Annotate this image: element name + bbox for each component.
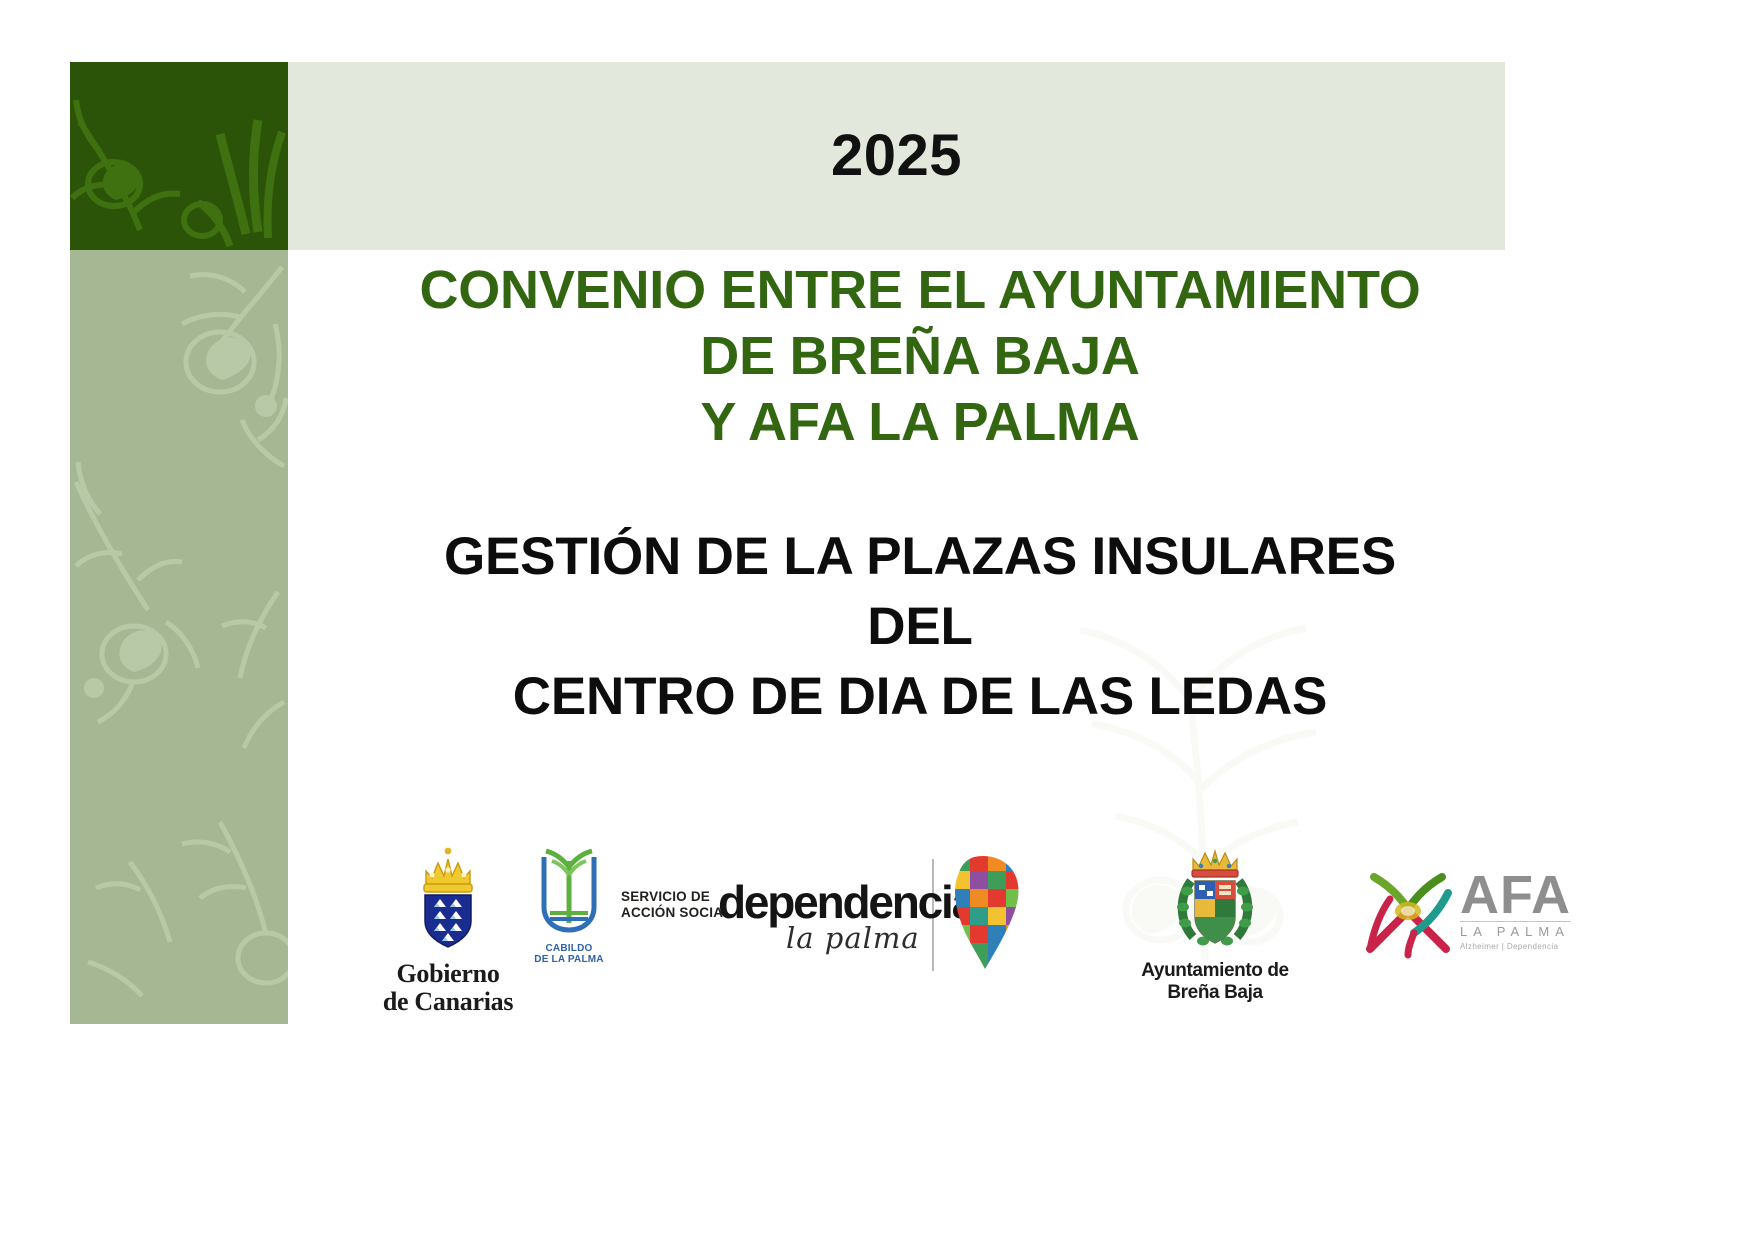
sidebar-dark-panel — [70, 62, 288, 250]
logo-afa-la-palma: AFA LA PALMA Alzheimer | Dependencia — [1360, 845, 1660, 959]
gobcan-label-line-2: de Canarias — [348, 988, 548, 1016]
title-green-line-1: CONVENIO ENTRE EL AYUNTAMIENTO — [300, 258, 1540, 324]
title-green-line-2: DE BREÑA BAJA — [300, 324, 1540, 390]
header-band: 2025 — [288, 62, 1505, 250]
sidebar-dark-foliage-icon — [70, 62, 288, 250]
coat-of-arms-icon — [1163, 845, 1267, 953]
year-label: 2025 — [288, 62, 1505, 250]
title-green-line-3: Y AFA LA PALMA — [300, 390, 1540, 456]
cabildo-mark-label-line-2: DE LA PALMA — [525, 954, 613, 965]
cabildo-text-line-2: ACCIÓN SOCIAL — [621, 905, 732, 921]
cabildo-mark-label-line-1: CABILDO — [525, 943, 613, 954]
title-black: GESTIÓN DE LA PLAZAS INSULARES DEL CENTR… — [300, 522, 1540, 732]
title-black-line-3: CENTRO DE DIA DE LAS LEDAS — [300, 662, 1540, 732]
logo-ayuntamiento-de-brena-baja: Ayuntamiento de Breña Baja — [1100, 845, 1330, 1005]
gobcan-label-line-1: Gobierno — [348, 960, 548, 988]
cabildo-text-line-1: SERVICIO DE — [621, 889, 732, 905]
afa-title: AFA — [1460, 871, 1571, 920]
dependencia-script-label: la palma — [786, 921, 920, 955]
crown-and-shield-icon — [405, 845, 491, 951]
logo-row: Gobierno de Canarias — [300, 845, 1690, 1005]
fountain-plant-icon — [528, 845, 610, 937]
ayto-label-line-1: Ayuntamiento de — [1100, 960, 1330, 982]
logo-dependencia-la-palma: dependencia la palma — [718, 845, 1038, 985]
ayto-label-line-2: Breña Baja — [1100, 982, 1330, 1004]
mosaic-island-icon — [944, 851, 1030, 971]
afa-butterfly-x-icon — [1360, 863, 1456, 959]
title-black-line-2: DEL — [300, 592, 1540, 662]
slide-canvas: 2025 CONVENIO ENTRE EL AYUNTAMIENTO DE — [0, 0, 1755, 1240]
afa-tagline: Alzheimer | Dependencia — [1460, 942, 1571, 951]
title-black-line-1: GESTIÓN DE LA PLAZAS INSULARES — [300, 522, 1540, 592]
decorative-sidebar — [70, 62, 288, 1024]
title-green: CONVENIO ENTRE EL AYUNTAMIENTO DE BREÑA … — [300, 258, 1540, 456]
logo-gobierno-de-canarias: Gobierno de Canarias — [348, 845, 548, 1016]
afa-subtitle: LA PALMA — [1460, 924, 1571, 939]
